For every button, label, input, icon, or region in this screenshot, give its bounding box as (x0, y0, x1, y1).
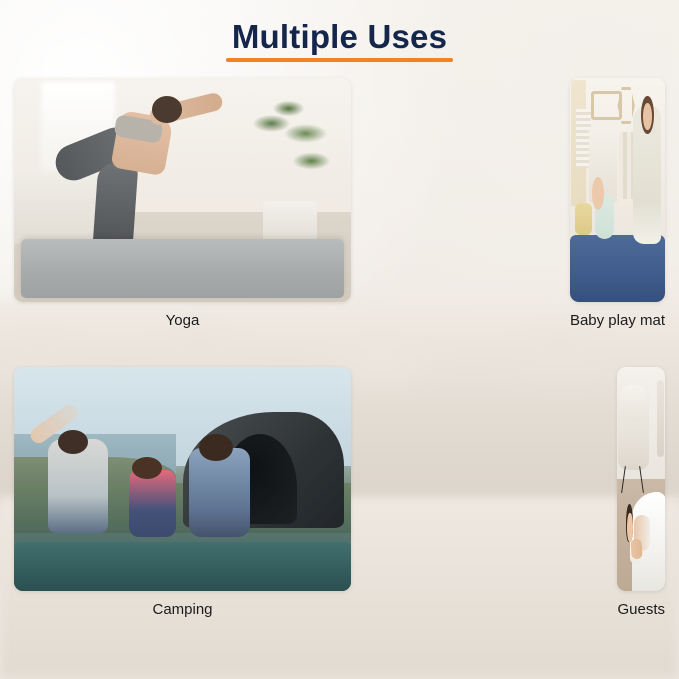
yoga-person-head (152, 96, 182, 123)
use-case-guests: Guests (617, 367, 665, 642)
photo-guests (617, 367, 665, 591)
photo-camping (14, 367, 351, 591)
camping-mat (14, 542, 351, 591)
mother-face (643, 103, 652, 130)
caption-baby-play-mat: Baby play mat (570, 312, 665, 329)
camping-man-head (199, 434, 233, 461)
title-underline (226, 58, 453, 62)
use-case-camping: Camping (14, 367, 351, 642)
yoga-mat (21, 239, 345, 297)
nursery-shelf (591, 91, 622, 119)
page-title: Multiple Uses (226, 18, 453, 62)
photo-yoga (14, 78, 351, 302)
title-area: Multiple Uses (0, 18, 679, 62)
guests-woman-face (627, 513, 632, 542)
product-infographic: Multiple Uses Yoga (0, 0, 679, 679)
use-case-yoga: Yoga (14, 78, 351, 353)
photo-baby-play-mat (570, 78, 665, 302)
camping-man-body (189, 448, 250, 538)
caption-camping: Camping (14, 601, 351, 618)
camping-girl-head (132, 457, 162, 479)
page-title-text: Multiple Uses (232, 18, 447, 55)
camping-girl-body (129, 470, 176, 537)
baby-play-mat (570, 235, 665, 302)
guests-side-table (657, 380, 664, 456)
use-case-baby-play-mat: Baby play mat (570, 78, 665, 353)
nursery-yellow-pillow (575, 203, 592, 234)
caption-yoga: Yoga (14, 312, 351, 329)
guests-woman-arm (630, 539, 643, 560)
uses-grid: Yoga Baby play mat (14, 78, 665, 642)
guests-sofa-backrest (619, 385, 647, 421)
caption-guests: Guests (617, 601, 665, 618)
